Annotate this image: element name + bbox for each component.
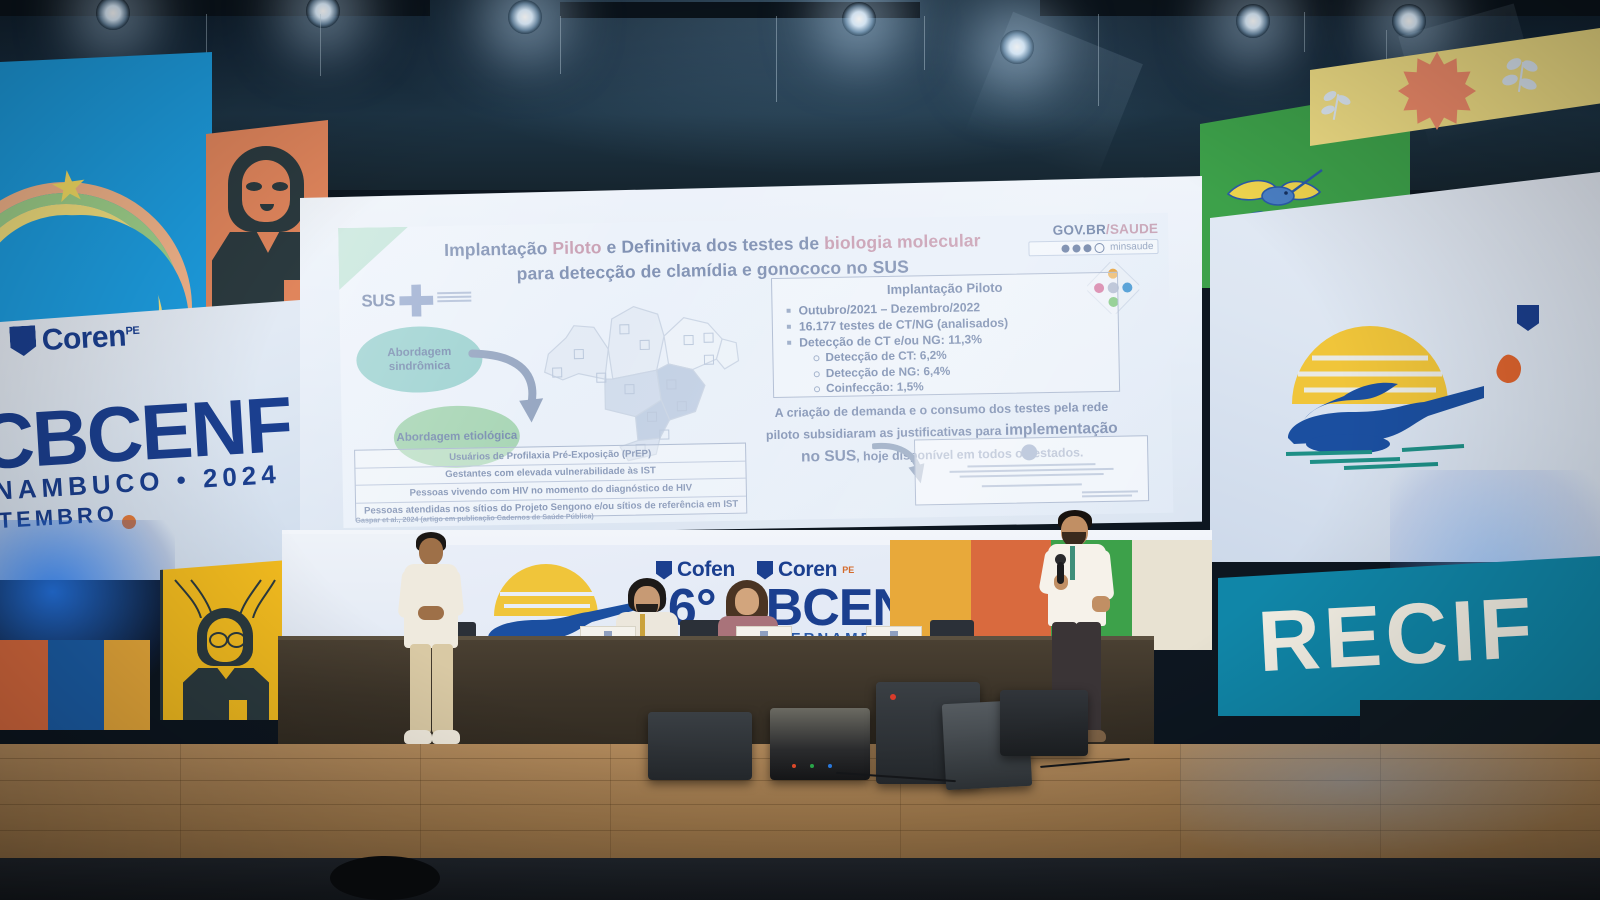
power-led	[792, 764, 796, 768]
pilot-sub-bullet-list: Detecção de CT: 6,2% Detecção de NG: 6,4…	[787, 345, 1119, 398]
stage-scene: CorenPE CBCENF RNAMBUCO • 2024 ETEMBRO	[0, 0, 1600, 900]
head	[419, 538, 443, 565]
paragraph-emph-nosus: no SUS	[801, 447, 856, 465]
twitter-icon	[1072, 244, 1080, 252]
stage-monitor-side	[1000, 690, 1088, 756]
signal-led	[810, 764, 814, 768]
govbr-wordmark: GOV.BR	[1053, 222, 1106, 238]
youtube-icon	[1094, 242, 1104, 252]
stage-light-icon	[508, 0, 542, 34]
portrait-eye	[272, 182, 288, 191]
govbr-social-row: minsaude	[1028, 239, 1158, 256]
coren-logo-left: CorenPE	[5, 318, 157, 368]
title-part-6: biologia molecular	[824, 230, 981, 253]
stage-light-icon	[842, 2, 876, 36]
backdrop-panel-blue-left	[0, 52, 212, 352]
ceiling-haze	[300, 0, 1300, 190]
hanging-cable	[1098, 14, 1099, 106]
hand-right	[1092, 596, 1110, 612]
truss-beam-left	[0, 0, 430, 16]
coren-state-mark: PE	[842, 565, 854, 575]
coren-logo-label: Coren	[41, 320, 127, 358]
foreground-shadow	[330, 856, 440, 900]
art-cell-cream	[1132, 540, 1213, 650]
medical-cross-icon	[399, 284, 434, 317]
portrait-eye	[246, 182, 262, 191]
stage-floor-glow	[1180, 744, 1600, 864]
hanging-cable	[1304, 12, 1305, 52]
coren-shield-icon	[757, 561, 773, 580]
govbr-suffix: SAUDE	[1110, 221, 1159, 237]
leg-right	[432, 644, 453, 734]
leg-left	[410, 644, 431, 734]
title-part-2: Piloto	[552, 237, 602, 258]
hanging-cable	[320, 14, 321, 76]
leaf-icon	[1500, 56, 1544, 100]
title-part-5: dos testes de	[701, 233, 824, 255]
gov-br-logo: GOV.BR/SAUDE minsaude	[1028, 221, 1159, 256]
cofen-shield-icon	[656, 561, 672, 580]
hands	[418, 606, 444, 620]
hanging-cable	[924, 16, 925, 70]
hanging-cable	[776, 16, 777, 102]
shoe-left	[404, 730, 432, 744]
floor-wedge-speaker	[648, 712, 752, 780]
sus-logo: SUS	[361, 284, 472, 320]
nota-tecnica-document	[914, 435, 1149, 505]
stage-front-edge	[0, 858, 1600, 900]
coren-state-mark: PE	[125, 325, 139, 338]
glasses-icon	[227, 632, 246, 648]
title-part-4: Definitiva	[621, 235, 701, 256]
presenter-left	[392, 532, 470, 750]
stage-light-icon	[1236, 4, 1270, 38]
pilot-bullet-list: Outubro/2021 – Dezembro/2022 16.177 test…	[772, 297, 1119, 398]
microphone-icon	[1057, 562, 1064, 584]
presentation-slide: Implantação Piloto e Definitiva dos test…	[338, 213, 1173, 528]
glasses-icon	[209, 632, 228, 648]
facebook-icon	[1061, 244, 1069, 252]
pilot-box-heading: Implantação Piloto	[772, 278, 1117, 299]
instagram-icon	[1083, 244, 1091, 252]
sus-label: SUS	[361, 291, 395, 312]
portrait-body	[183, 668, 269, 724]
title-part-1: Implantação	[444, 238, 553, 260]
leaf-icon	[1318, 88, 1356, 126]
lanyard	[640, 614, 645, 638]
shoe-right	[432, 730, 460, 744]
powered-amplifier	[770, 708, 870, 780]
sus-tagline	[437, 292, 471, 309]
pilot-results-box: Implantação Piloto Outubro/2021 – Dezemb…	[771, 272, 1120, 398]
recife-city-logo	[1252, 312, 1502, 472]
portrait-pocket	[229, 700, 247, 720]
title-part-3: e	[601, 237, 621, 257]
power-led	[890, 694, 896, 700]
hanging-cable	[560, 16, 561, 74]
lanyard	[1070, 546, 1075, 580]
city-sign-text: RECIF	[1256, 579, 1539, 692]
criteria-table: Usuários de Profilaxia Pré-Exposição (Pr…	[354, 443, 747, 521]
status-led	[828, 764, 832, 768]
brazil-coat-of-arms-icon	[1021, 444, 1037, 460]
head	[735, 588, 759, 615]
govbr-social-handle: minsaude	[1110, 241, 1154, 253]
portrait-face	[242, 160, 290, 222]
backdrop-strips-left	[0, 640, 150, 730]
backdrop-portrait-yellow	[160, 560, 288, 720]
